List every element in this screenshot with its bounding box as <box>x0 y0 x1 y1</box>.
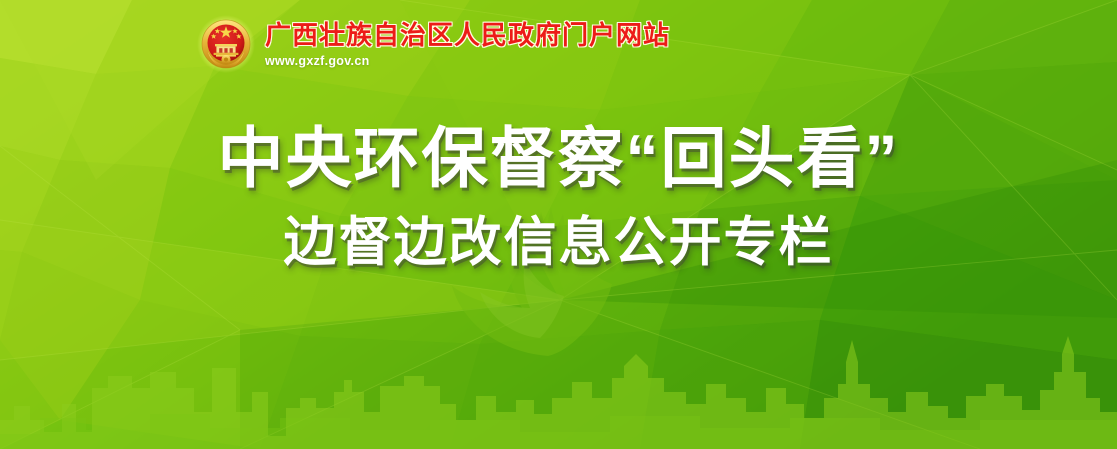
government-site-title: 广西壮族自治区人民政府门户网站 <box>265 22 670 49</box>
china-national-emblem-icon <box>196 14 256 74</box>
government-environmental-inspection-banner: 广西壮族自治区人民政府门户网站 www.gxzf.gov.cn 中央环保督察“回… <box>0 0 1117 449</box>
government-site-lockup[interactable]: 广西壮族自治区人民政府门户网站 www.gxzf.gov.cn <box>196 14 670 74</box>
government-title-block: 广西壮族自治区人民政府门户网站 www.gxzf.gov.cn <box>265 20 670 68</box>
government-site-url: www.gxzf.gov.cn <box>265 54 670 68</box>
